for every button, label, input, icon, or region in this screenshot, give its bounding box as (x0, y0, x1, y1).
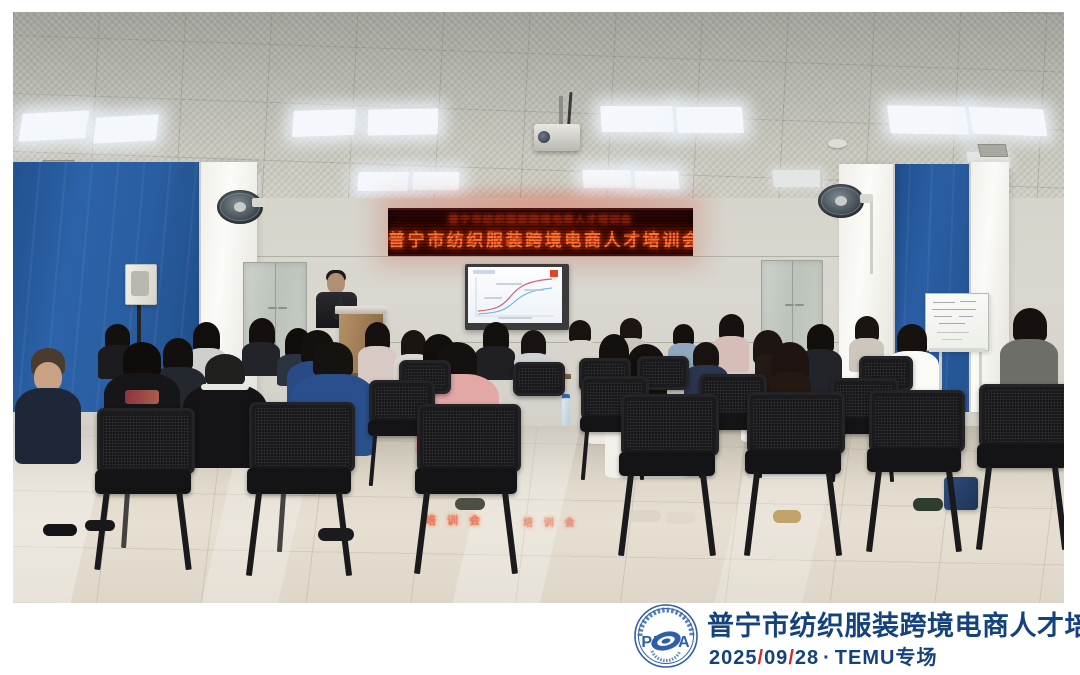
fan-power-conduit (870, 202, 873, 274)
caption-date-month: 09 (764, 647, 788, 669)
door-handle (785, 304, 794, 306)
ceiling-light-panel (887, 105, 969, 134)
chair-backrest (869, 390, 965, 452)
attendee-hair (807, 324, 834, 352)
fan-blade-icon (818, 184, 864, 218)
attendee-hair (569, 320, 591, 342)
floor-led-reflection: 培 训 会 (425, 512, 484, 528)
chair-backrest (747, 392, 845, 454)
slide-label (524, 289, 544, 291)
led-banner: 普宁市纺织服装跨境电商人才培训会 普宁市纺织服装跨境电商人才培训会 (388, 208, 693, 256)
floor-led-reflection: 培 训 会 (523, 514, 579, 529)
chair-backrest (417, 404, 521, 472)
attendee-shoe (318, 528, 354, 541)
caption-date-day: 28 (795, 647, 819, 669)
attendee-torso (15, 388, 81, 464)
ceiling-light-panel (292, 109, 356, 137)
attendee-shoe (85, 520, 115, 531)
whiteboard-writing (942, 339, 962, 340)
ceiling-light-panel (969, 107, 1048, 137)
whiteboard-writing (939, 323, 965, 324)
whiteboard-writing (932, 309, 976, 310)
projector-screen (465, 264, 569, 330)
led-banner-line-1: 普宁市纺织服装跨境电商人才培训会 (388, 211, 693, 226)
attendee-shoe (665, 512, 695, 524)
chair-seat (619, 452, 715, 476)
attendee-hair (313, 342, 353, 376)
column-edge (969, 162, 971, 412)
attendee-shoe (455, 498, 485, 510)
chair-backrest (513, 362, 565, 396)
ceiling-projector (534, 124, 580, 151)
water-bottle (562, 398, 570, 426)
ceiling-light-panel (600, 106, 673, 132)
attendee-hair (673, 324, 694, 345)
chair-backrest (249, 402, 355, 472)
whiteboard-writing (933, 302, 955, 303)
attendee-torso (242, 342, 280, 376)
slide-label (484, 297, 502, 299)
attendee-shoe (629, 510, 661, 522)
attendee-shoe (773, 510, 801, 523)
ceiling-light-panel (93, 114, 159, 143)
chair-seat (95, 470, 191, 494)
whiteboard-writing (937, 332, 969, 333)
smoke-detector-icon (828, 139, 847, 148)
attendee-shoe (43, 524, 77, 536)
pnca-logo: PNCA (633, 603, 699, 669)
slide-label (496, 283, 522, 285)
whiteboard-writing (960, 301, 976, 302)
attendee-hair (205, 354, 245, 386)
fan-rod (258, 174, 261, 194)
attendee-hair (1013, 308, 1047, 342)
projector-lens-icon (538, 131, 550, 143)
attendee-torso (475, 346, 515, 380)
wall-fan-right (818, 184, 864, 218)
ceiling-light-panel (368, 108, 439, 135)
presenter-head (327, 273, 345, 294)
event-photo: 普宁市纺织服装跨境电商人才培训会 普宁市纺织服装跨境电商人才培训会 (13, 12, 1064, 603)
chair-seat (247, 468, 351, 494)
chair-seat (867, 448, 961, 472)
chair-backrest (621, 394, 719, 456)
chair-seat (415, 468, 517, 494)
fan-blade-icon (217, 190, 263, 224)
caption-title: 普宁市纺织服装跨境电商人才培训会 (707, 604, 1080, 643)
attendee-hair (620, 318, 642, 340)
whiteboard-marker-tray (929, 348, 985, 352)
whiteboard (925, 293, 989, 351)
chair-backrest (979, 384, 1064, 448)
chair-seat (977, 444, 1064, 468)
led-banner-line-2: 普宁市纺织服装跨境电商人才培训会 (388, 226, 693, 251)
chair-backrest (97, 408, 195, 474)
caption-middot: · (819, 647, 835, 669)
attendee-hair (897, 324, 927, 354)
ceiling-light-panel (676, 107, 744, 133)
slide-line-chart (468, 267, 562, 323)
whiteboard-writing (959, 316, 973, 317)
slide-label (498, 317, 532, 319)
attendee-shoe (913, 498, 943, 511)
tshirt-graphic (125, 390, 159, 404)
caption-session: TEMU专场 (835, 647, 938, 669)
fan-rod (820, 170, 823, 188)
attendee-hair (123, 342, 161, 376)
pa-speaker (125, 264, 157, 305)
whiteboard-writing (934, 316, 952, 317)
pnca-logo-svg: PNCA (633, 603, 699, 669)
ceiling-light-panel (18, 110, 89, 141)
wall-fan-left (217, 190, 263, 224)
door-handle (278, 307, 287, 309)
chair-seat (745, 450, 841, 474)
door-handle (795, 304, 804, 306)
ceiling-light-panel (772, 170, 824, 187)
caption-date-year: 2025 (709, 647, 758, 669)
poster-page: 普宁市纺织服装跨境电商人才培训会 普宁市纺织服装跨境电商人才培训会 (0, 0, 1080, 675)
caption-subtitle: 2025/09/28·TEMU专场 (709, 641, 937, 670)
door-handle (268, 307, 277, 309)
ceiling-vent (977, 144, 1008, 157)
attendee-hair (163, 338, 193, 370)
collar (201, 384, 249, 390)
attendee-torso (358, 346, 396, 380)
podium-top (335, 306, 387, 314)
projector-screen-slide (468, 267, 562, 323)
